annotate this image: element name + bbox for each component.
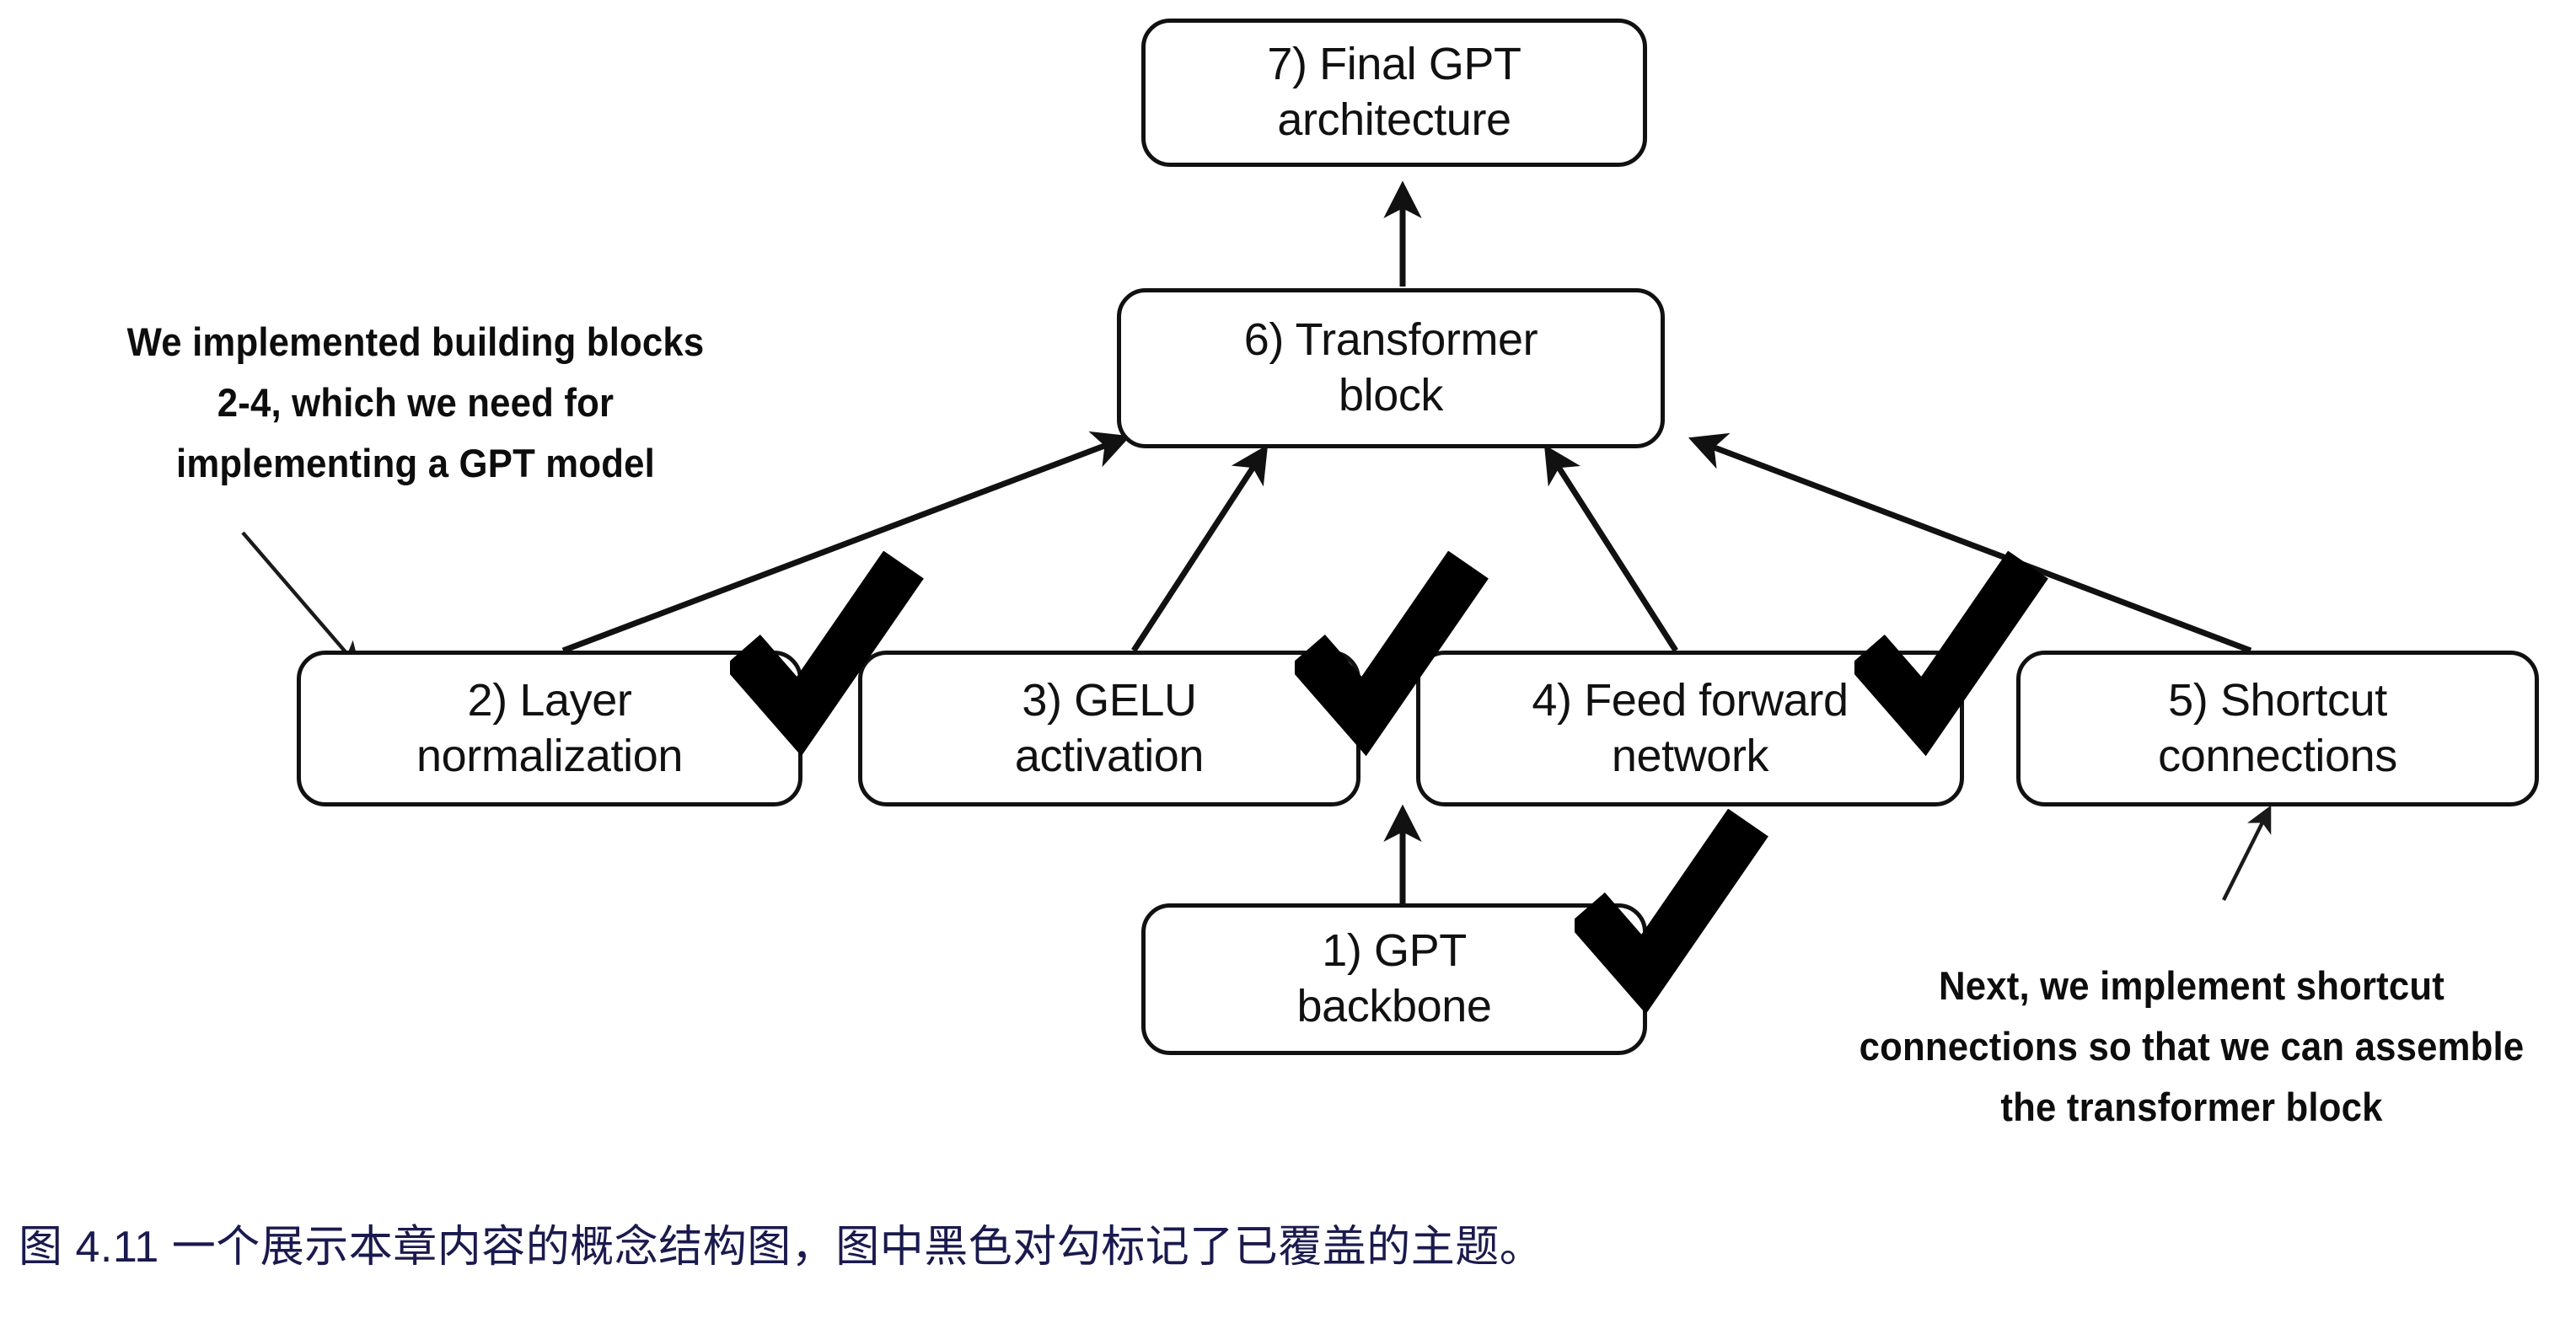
edge-shortcut-to-transformer xyxy=(1694,440,2251,651)
edge-gelu-to-transformer xyxy=(1134,450,1264,651)
edge-annotation-right-to-shortcut xyxy=(2224,809,2269,900)
node-gpt-backbone[interactable]: 1) GPT backbone xyxy=(1141,903,1647,1055)
annotation-left: We implemented building blocks 2-4, whic… xyxy=(90,312,741,494)
annotation-right: Next, we implement shortcut connections … xyxy=(1831,956,2552,1138)
node-transformer-block[interactable]: 6) Transformer block xyxy=(1117,288,1665,448)
node-gelu-activation-label: 3) GELU activation xyxy=(1006,673,1212,785)
node-final-gpt-architecture-label: 7) Final GPT architecture xyxy=(1258,37,1529,148)
node-layer-normalization[interactable]: 2) Layer normalization xyxy=(297,651,802,806)
node-feed-forward-network[interactable]: 4) Feed forward network xyxy=(1416,651,1964,806)
node-feed-forward-network-label: 4) Feed forward network xyxy=(1523,673,1856,785)
node-shortcut-connections-label: 5) Shortcut connections xyxy=(2149,673,2406,785)
node-transformer-block-label: 6) Transformer block xyxy=(1236,313,1547,424)
edge-annotation-left-to-layernorm xyxy=(243,533,357,666)
figure-caption: 图 4.11 一个展示本章内容的概念结构图，图中黑色对勾标记了已覆盖的主题。 xyxy=(19,1220,2547,1275)
node-gpt-backbone-label: 1) GPT backbone xyxy=(1289,924,1500,1035)
node-gelu-activation[interactable]: 3) GELU activation xyxy=(858,651,1360,806)
edge-feedforward-to-transformer xyxy=(1548,450,1676,651)
node-shortcut-connections[interactable]: 5) Shortcut connections xyxy=(2016,651,2539,806)
figure-canvas: 7) Final GPT architecture 6) Transformer… xyxy=(0,0,2576,1318)
node-layer-normalization-label: 2) Layer normalization xyxy=(408,673,691,785)
node-final-gpt-architecture[interactable]: 7) Final GPT architecture xyxy=(1141,19,1647,167)
